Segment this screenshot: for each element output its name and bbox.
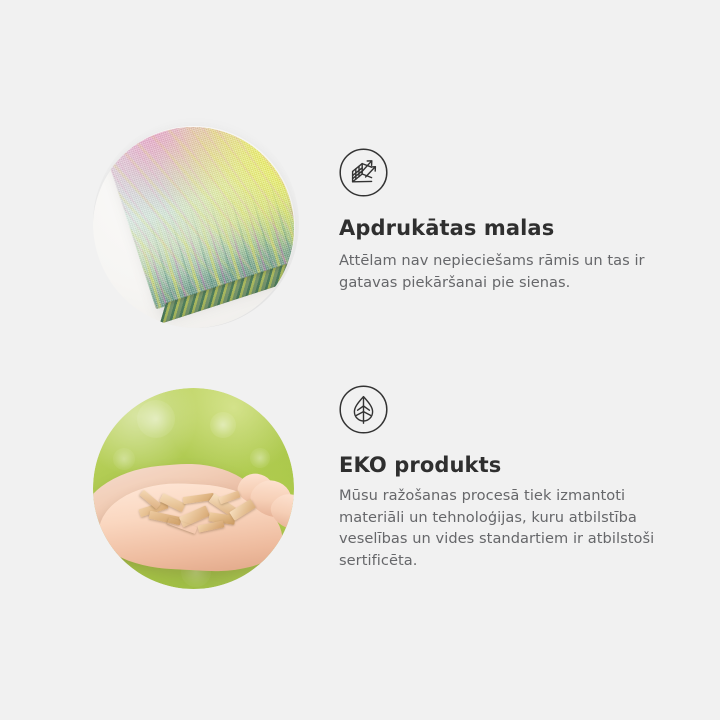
wood-chip	[219, 491, 241, 505]
feature-block-eko-product: EKO produkts Mūsu ražošanas procesā tiek…	[0, 360, 720, 720]
canvas-wrapped-edge-icon	[339, 148, 388, 197]
eko-photo-image	[93, 388, 294, 589]
bokeh-highlight	[210, 412, 236, 438]
feature-title: EKO produkts	[339, 453, 689, 478]
wood-chip	[229, 499, 255, 520]
wood-chip	[198, 520, 225, 532]
cupped-hands	[93, 460, 294, 577]
bokeh-highlight	[137, 400, 175, 438]
hands-with-wood-chips-photo	[93, 388, 294, 589]
feature-text-printed-edges: Apdrukātas malas Attēlam nav nepieciešam…	[339, 148, 689, 293]
feature-title: Apdrukātas malas	[339, 216, 689, 241]
product-features-page: Apdrukātas malas Attēlam nav nepieciešam…	[0, 0, 720, 720]
feature-description: Attēlam nav nepieciešams rāmis un tas ir…	[339, 250, 684, 293]
canvas-print-illustration	[93, 118, 299, 328]
feature-description: Mūsu ražošanas procesā tiek izmantoti ma…	[339, 485, 687, 571]
wood-chips-pile	[134, 493, 264, 540]
canvas-print-image	[93, 118, 299, 328]
feature-text-eko-product: EKO produkts Mūsu ražošanas procesā tiek…	[339, 385, 689, 572]
canvas-slab	[96, 118, 299, 309]
feature-block-printed-edges: Apdrukātas malas Attēlam nav nepieciešam…	[0, 0, 720, 360]
leaf-icon	[339, 385, 388, 434]
